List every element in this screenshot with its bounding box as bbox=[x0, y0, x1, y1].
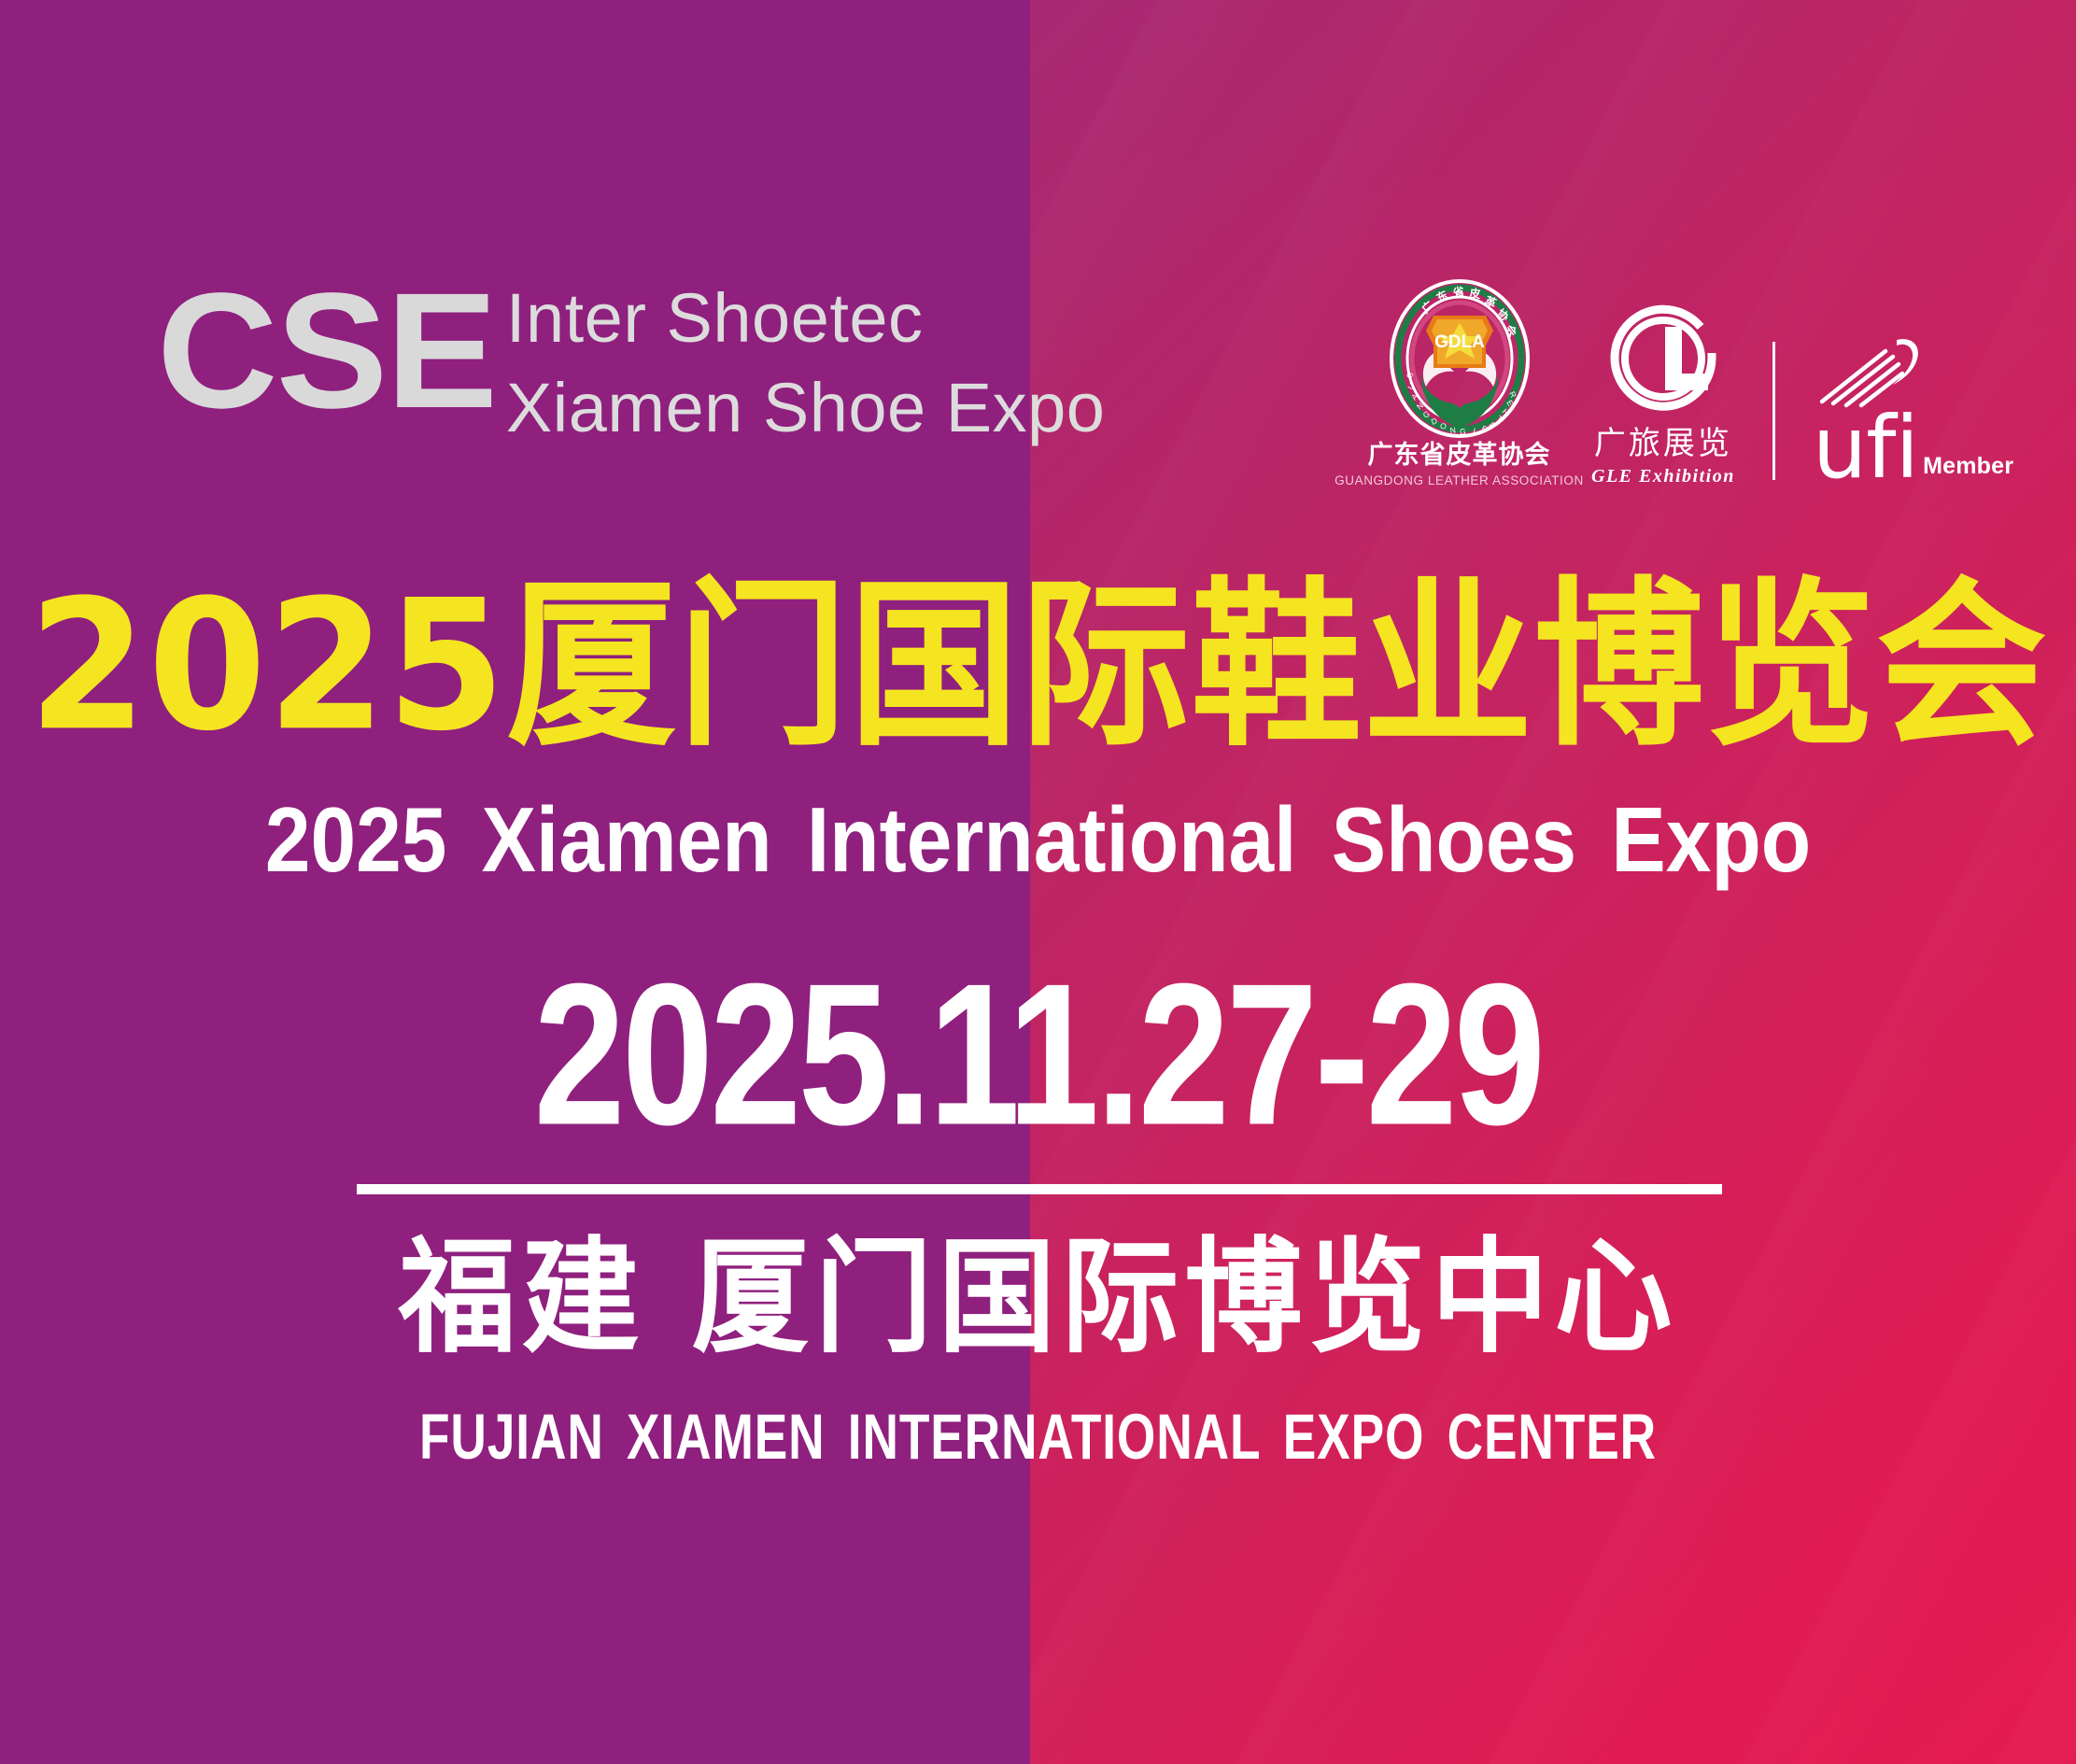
ufi-wordmark: ufi bbox=[1813, 413, 1918, 483]
svg-text:皮: 皮 bbox=[1467, 286, 1481, 301]
svg-text:GDLA: GDLA bbox=[1434, 332, 1485, 352]
partner-logos-group: GDLA 广 东 省 皮 革 协 会 G bbox=[1359, 278, 2013, 487]
logo-divider bbox=[1772, 342, 1775, 480]
gle-monogram-icon bbox=[1600, 295, 1727, 422]
cse-logo-block: CSE Inter Shoetec Xiamen Shoe Expo bbox=[157, 276, 1105, 443]
venue-name-chinese: 福建 厦门国际博览中心 bbox=[0, 1235, 2076, 1361]
gdla-name-cn: 广东省皮革协会 bbox=[1368, 443, 1551, 468]
gdla-name-en: GUANGDONG LEATHER ASSOCIATION bbox=[1335, 474, 1584, 487]
event-date: 2025.11.27-29 bbox=[124, 954, 1951, 1156]
gle-name-en: GLE Exhibition bbox=[1591, 467, 1735, 486]
ufi-logo: ufi Member bbox=[1813, 331, 2013, 487]
gle-logo: 广旅展览 GLE Exhibition bbox=[1591, 295, 1735, 487]
cse-wordmark: CSE bbox=[157, 276, 496, 428]
venue-name-english: FUJIAN XIAMEN INTERNATIONAL EXPO CENTER bbox=[146, 1406, 1931, 1470]
ufi-swoosh-icon bbox=[1818, 331, 1928, 411]
cse-logo-text-lines: Inter Shoetec Xiamen Shoe Expo bbox=[506, 284, 1106, 443]
svg-text:G: G bbox=[1459, 427, 1465, 436]
poster-content: CSE Inter Shoetec Xiamen Shoe Expo bbox=[0, 0, 2076, 1764]
poster-canvas: CSE Inter Shoetec Xiamen Shoe Expo bbox=[0, 0, 2076, 1764]
event-title-english: 2025 Xiamen International Shoes Expo bbox=[73, 794, 2003, 886]
gdla-logo: GDLA 广 东 省 皮 革 协 会 G bbox=[1359, 278, 1560, 487]
ufi-wordmark-row: ufi Member bbox=[1813, 413, 2013, 483]
svg-text:O: O bbox=[1439, 421, 1448, 431]
header-row: CSE Inter Shoetec Xiamen Shoe Expo bbox=[0, 276, 2076, 487]
horizontal-rule bbox=[357, 1184, 1722, 1194]
event-title-chinese: 2025厦门国际鞋业博览会 bbox=[0, 576, 2076, 756]
cse-logo-line-1: Inter Shoetec bbox=[506, 284, 1106, 353]
cse-logo-line-2: Xiamen Shoe Expo bbox=[506, 374, 1106, 443]
svg-text:N: N bbox=[1449, 425, 1457, 435]
ufi-member-label: Member bbox=[1923, 455, 2013, 478]
gdla-seal-icon: GDLA 广 东 省 皮 革 协 会 G bbox=[1389, 278, 1531, 439]
gle-name-cn: 广旅展览 bbox=[1594, 428, 1732, 459]
